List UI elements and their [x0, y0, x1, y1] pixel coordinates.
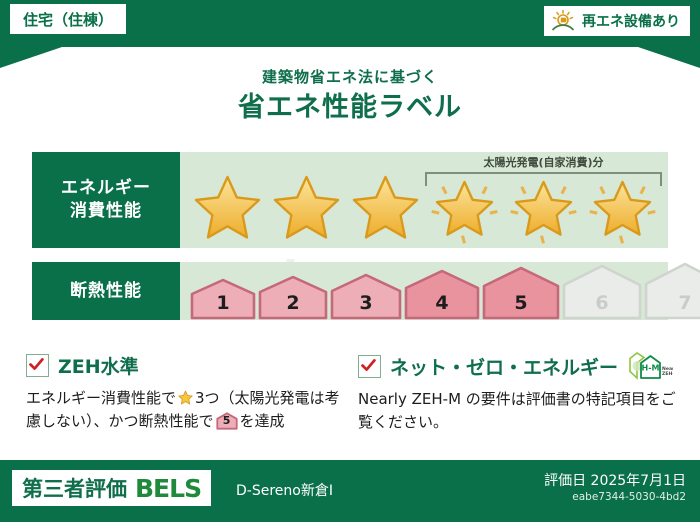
energy-label-line2: 消費性能	[70, 200, 142, 223]
net-zero-header: ネット・ゼロ・エネルギー H-M Nearly ZEH-M	[358, 352, 678, 380]
building-type-tag: 住宅（住棟）	[10, 4, 126, 34]
evaluation-date: 評価日 2025年7月1日	[544, 470, 686, 490]
zeh-standard-block: ZEH水準 エネルギー消費性能で3つ（太陽光発電は考慮しない）、かつ断熱性能で5…	[26, 352, 346, 434]
inline-star-icon	[177, 389, 194, 406]
insulation-row-body: 1 2 3 4 5	[180, 262, 668, 320]
check-icon	[361, 358, 376, 373]
insulation-level-7-value: 7	[644, 292, 700, 314]
insulation-row-label: 断熱性能	[32, 262, 180, 320]
star-filled	[188, 168, 267, 246]
bels-label: BELS	[135, 474, 201, 503]
renewable-equipment-badge: 再エネ設備あり	[544, 6, 690, 36]
net-zero-checkbox[interactable]	[358, 355, 381, 378]
energy-row-body: 太陽光発電(自家消費)分	[180, 152, 668, 248]
net-zero-title: ネット・ゼロ・エネルギー	[390, 353, 618, 380]
renewable-badge-label: 再エネ設備あり	[582, 11, 680, 31]
zeh-text-before-star: エネルギー消費性能で	[26, 389, 176, 407]
project-name: D-Sereno新倉Ⅰ	[236, 480, 333, 500]
insulation-level-5-value: 5	[482, 292, 560, 314]
insulation-level-1-value: 1	[190, 292, 256, 314]
inline-house-value: 5	[216, 412, 238, 429]
net-zero-energy-block: ネット・ゼロ・エネルギー H-M Nearly ZEH-M Nearly ZEH…	[358, 352, 678, 435]
energy-label-line1: エネルギー	[61, 177, 151, 200]
insulation-level-6: 6	[562, 264, 642, 320]
insulation-level-2: 2	[258, 275, 328, 320]
zeh-standard-checkbox[interactable]	[26, 354, 49, 377]
inline-house-icon: 5	[216, 412, 238, 430]
third-party-label: 第三者評価	[22, 473, 127, 503]
net-zero-description: Nearly ZEH-M の要件は評価書の特記項目をご覧ください。	[358, 388, 678, 435]
insulation-level-6-value: 6	[562, 292, 642, 314]
footer: 第三者評価 BELS D-Sereno新倉Ⅰ 評価日 2025年7月1日 eab…	[0, 460, 700, 522]
zeh-standard-header: ZEH水準	[26, 352, 346, 379]
energy-label-root: 住宅（住棟） 再エネ設備あり ハウステラス 建築物省エネ法に基づく 省エネ性能ラ…	[0, 0, 700, 522]
insulation-level-5: 5	[482, 266, 560, 320]
star-filled	[267, 168, 346, 246]
insulation-level-4-value: 4	[404, 292, 480, 314]
zeh-m-logo: H-M Nearly ZEH-M	[627, 352, 673, 380]
label-subtitle: 建築物省エネ法に基づく	[0, 66, 700, 87]
insulation-level-4: 4	[404, 269, 480, 320]
solar-sun-icon	[550, 9, 576, 33]
insulation-label: 断熱性能	[70, 280, 142, 303]
energy-performance-row: エネルギー 消費性能 太陽光発電(自家消費)分	[32, 152, 668, 248]
star-solar	[425, 168, 504, 246]
insulation-level-3: 3	[330, 273, 402, 320]
star-solar	[583, 168, 662, 246]
insulation-level-7: 7	[644, 262, 700, 320]
evaluation-id: eabe7344-5030-4bd2	[572, 491, 686, 503]
zeh-standard-title: ZEH水準	[58, 352, 139, 379]
star-solar	[504, 168, 583, 246]
svg-text:ZEH-M: ZEH-M	[662, 371, 673, 377]
star-rating	[180, 168, 668, 246]
zeh-standard-description: エネルギー消費性能で3つ（太陽光発電は考慮しない）、かつ断熱性能で5を達成	[26, 387, 346, 434]
bels-badge: 第三者評価 BELS	[12, 470, 211, 506]
check-icon	[29, 357, 44, 372]
star-filled	[346, 168, 425, 246]
insulation-scale: 1 2 3 4 5	[180, 262, 668, 320]
insulation-level-1: 1	[190, 278, 256, 320]
insulation-level-3-value: 3	[330, 292, 402, 314]
energy-row-label: エネルギー 消費性能	[32, 152, 180, 248]
zeh-text-end: を達成	[240, 412, 285, 430]
svg-text:H-M: H-M	[642, 364, 660, 373]
insulation-performance-row: 断熱性能 1 2 3 4	[32, 262, 668, 320]
insulation-level-2-value: 2	[258, 292, 328, 314]
building-type-label: 住宅（住棟）	[23, 9, 113, 30]
label-title: 省エネ性能ラベル	[0, 85, 700, 124]
